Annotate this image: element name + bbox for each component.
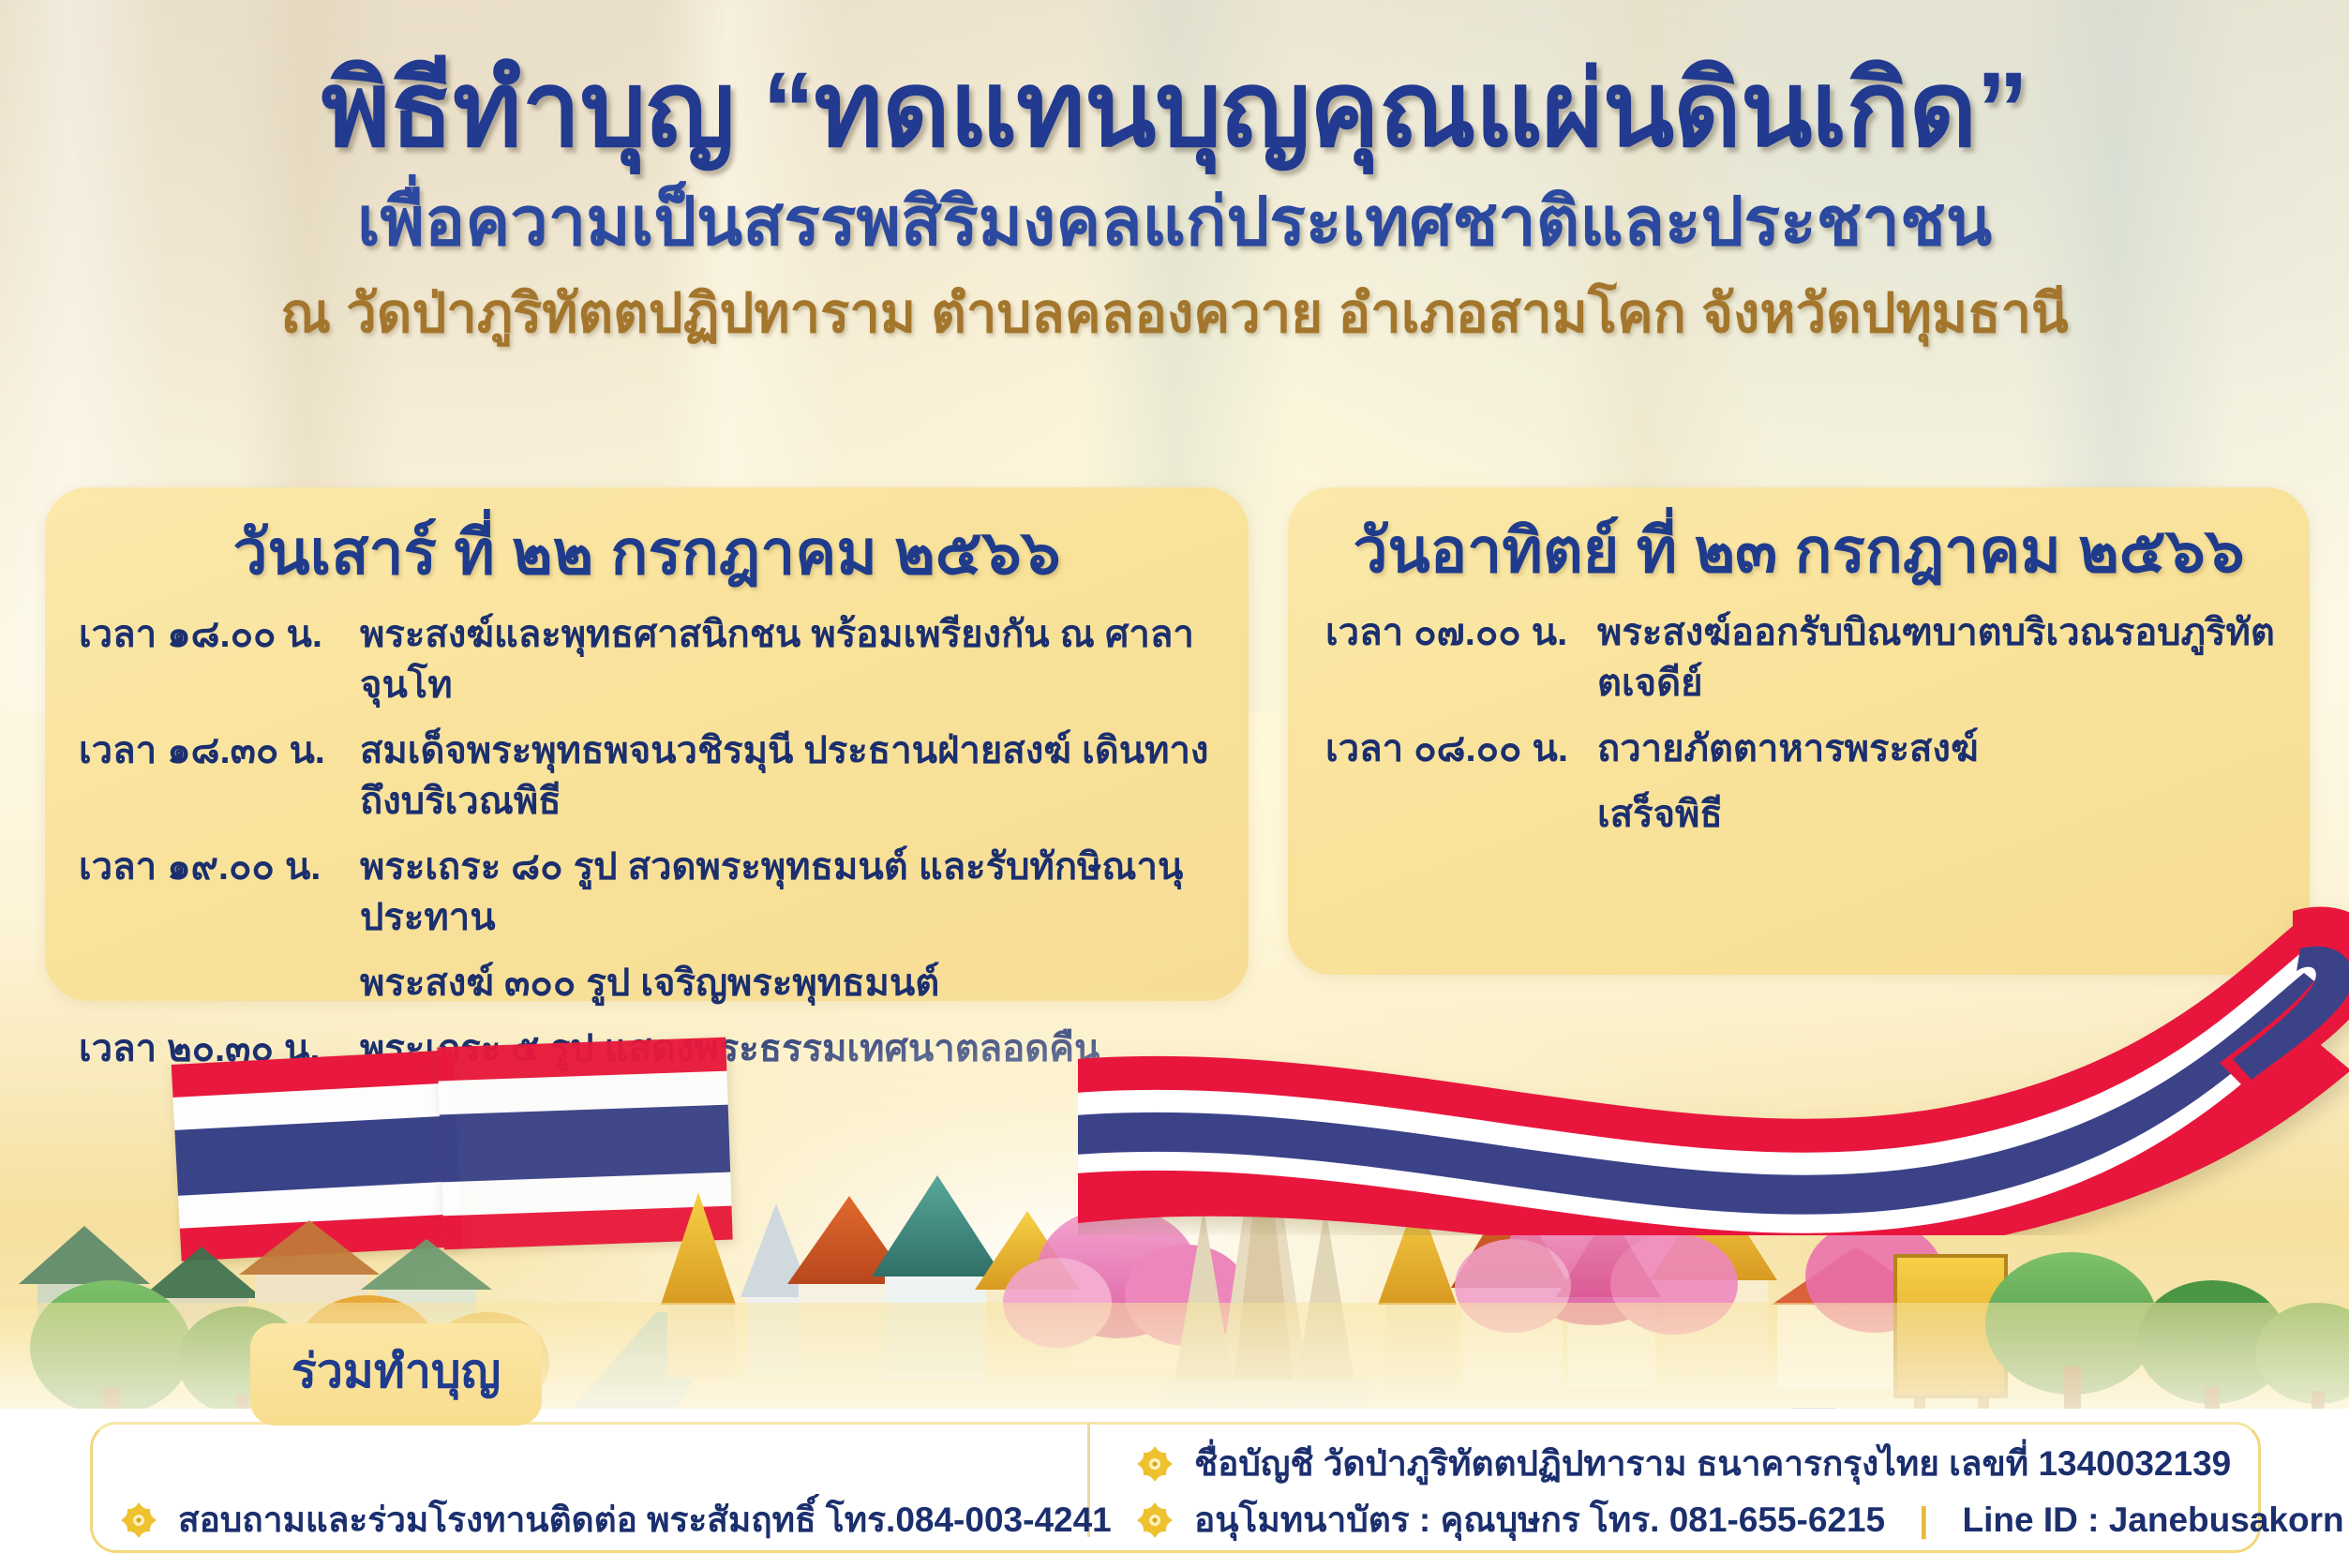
join-merit-tag: ร่วมทำบุญ xyxy=(250,1323,542,1426)
schedule-description: พระสงฆ์และพุทธศาสนิกชน พร้อมเพรียงกัน ณ … xyxy=(360,609,1213,710)
bank-account-text: ชื่อบัญชี วัดป่าภูริทัตตปฏิปทาราม ธนาคาร… xyxy=(1194,1436,2231,1491)
schedule-time: เวลา ๑๘.๓๐ น. xyxy=(79,725,360,776)
schedule-description: ถวายภัตตาหารพระสงฆ์ xyxy=(1597,724,1979,774)
poster-root: พิธีทำบุญ “ทดแทนบุญคุณแผ่นดินเกิด” เพื่อ… xyxy=(0,0,2349,1568)
schedule-row: เวลา ๐๗.๐๐ น. พระสงฆ์ออกรับบิณฑบาตบริเวณ… xyxy=(1325,607,2283,709)
day-two-heading: วันอาทิตย์ ที่ ๒๓ กรกฎาคม ๒๕๖๖ xyxy=(1288,487,2310,587)
thai-flower-ornament-icon xyxy=(1136,1445,1174,1483)
poster-header: พิธีทำบุญ “ทดแทนบุญคุณแผ่นดินเกิด” เพื่อ… xyxy=(0,0,2349,344)
contact-row: สอบถามและร่วมโรงทานติดต่อ พระสัมฤทธิ์ โท… xyxy=(120,1492,1112,1547)
donation-contact-row: อนุโมทนาบัตร : คุณบุษกร โทร. 081-655-621… xyxy=(1136,1492,2344,1547)
day-two-schedule-list: เวลา ๐๗.๐๐ น. พระสงฆ์ออกรับบิณฑบาตบริเวณ… xyxy=(1288,607,2310,840)
schedule-row: เวลา ๑๘.๐๐ น. พระสงฆ์และพุทธศาสนิกชน พร้… xyxy=(79,609,1213,710)
schedule-description: พระสงฆ์ออกรับบิณฑบาตบริเวณรอบภูริทัตตเจด… xyxy=(1597,607,2283,709)
schedule-time: เวลา ๐๘.๐๐ น. xyxy=(1325,724,1597,774)
bank-account-row: ชื่อบัญชี วัดป่าภูริทัตตปฏิปทาราม ธนาคาร… xyxy=(1136,1436,2231,1491)
thai-flower-ornament-icon xyxy=(120,1501,157,1539)
schedule-cards: วันเสาร์ ที่ ๒๒ กรกฎาคม ๒๕๖๖ เวลา ๑๘.๐๐ … xyxy=(0,487,2349,1012)
page-title: พิธีทำบุญ “ทดแทนบุญคุณแผ่นดินเกิด” xyxy=(0,0,2349,165)
schedule-continuation: เสร็จพิธี xyxy=(1597,789,2283,840)
schedule-time: เวลา ๑๘.๐๐ น. xyxy=(79,609,360,660)
schedule-description: สมเด็จพระพุทธพจนวชิรมุนี ประธานฝ่ายสงฆ์ … xyxy=(360,725,1213,827)
schedule-description: พระเถระ ๘๐ รูป สวดพระพุทธมนต์ และรับทักษ… xyxy=(360,842,1213,943)
schedule-row: เวลา ๑๙.๐๐ น. พระเถระ ๘๐ รูป สวดพระพุทธม… xyxy=(79,842,1213,943)
schedule-time: เวลา ๑๙.๐๐ น. xyxy=(79,842,360,892)
thai-flower-ornament-icon xyxy=(1136,1501,1174,1539)
day-one-heading: วันเสาร์ ที่ ๒๒ กรกฎาคม ๒๕๖๖ xyxy=(45,487,1249,589)
line-id-text: Line ID : Janebusakorn xyxy=(1963,1501,2344,1540)
contact-text: สอบถามและร่วมโรงทานติดต่อ พระสัมฤทธิ์ โท… xyxy=(178,1492,1112,1547)
schedule-card-day-one: วันเสาร์ ที่ ๒๒ กรกฎาคม ๒๕๖๖ เวลา ๑๘.๐๐ … xyxy=(45,487,1249,1001)
footer-separator: | xyxy=(1906,1501,1941,1540)
donation-contact-text: อนุโมทนาบัตร : คุณบุษกร โทร. 081-655-621… xyxy=(1194,1492,1885,1547)
venue-line: ณ วัดป่าภูริทัตตปฏิปทาราม ตำบลคลองควาย อ… xyxy=(0,284,2349,344)
page-subtitle: เพื่อความเป็นสรรพสิริมงคลแก่ประเทศชาติแล… xyxy=(0,186,2349,260)
schedule-card-day-two: วันอาทิตย์ ที่ ๒๓ กรกฎาคม ๒๕๖๖ เวลา ๐๗.๐… xyxy=(1288,487,2310,975)
schedule-row: เวลา ๑๘.๓๐ น. สมเด็จพระพุทธพจนวชิรมุนี ป… xyxy=(79,725,1213,827)
schedule-time: เวลา ๐๗.๐๐ น. xyxy=(1325,607,1597,658)
schedule-row: เวลา ๐๘.๐๐ น. ถวายภัตตาหารพระสงฆ์ xyxy=(1325,724,2283,774)
